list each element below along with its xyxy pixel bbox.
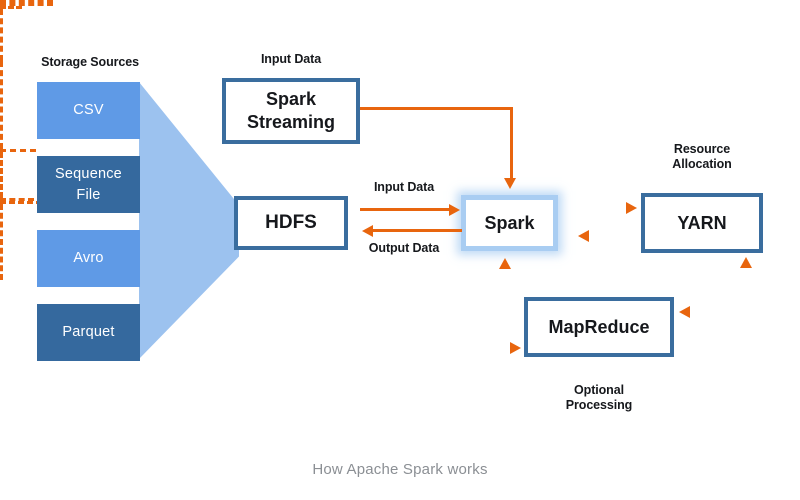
resource-allocation-label: ResourceAllocation [641, 142, 763, 172]
node-label: HDFS [265, 212, 317, 234]
connector-yarn-to-mapreduce-dashed-vertical [0, 152, 3, 198]
storage-item-label: CSV [73, 100, 103, 121]
storage-item-csv: CSV [37, 82, 140, 139]
hdfs-output-data-label: Output Data [352, 241, 456, 256]
optional-processing-label: OptionalProcessing [538, 383, 660, 413]
connector-spark-to-hdfs-line [372, 229, 462, 232]
node-yarn: YARN [641, 193, 763, 253]
node-spark: Spark [461, 195, 558, 251]
connector-hdfs-to-spark-arrowhead [449, 204, 460, 216]
connector-mapreduce-to-spark-dashed-vertical [0, 9, 3, 61]
storage-item-avro: Avro [37, 230, 140, 287]
storage-sources-title: Storage Sources [20, 55, 160, 70]
storage-item-label: SequenceFile [55, 164, 122, 206]
connector-spark-to-mapreduce-arrowhead [510, 342, 521, 354]
storage-item-sequence-file: SequenceFile [37, 156, 140, 213]
connector-mapreduce-to-spark-arrowhead [499, 258, 511, 269]
node-label: Spark [484, 213, 534, 234]
storage-item-label: Avro [73, 248, 103, 269]
connector-mapreduce-to-yarn-dashed-vertical [0, 204, 3, 280]
connector-streaming-to-spark-arrowhead [504, 178, 516, 189]
node-hdfs: HDFS [234, 196, 348, 250]
connector-spark-to-mapreduce-dashed-horizontal [0, 149, 36, 152]
streaming-input-data-label: Input Data [222, 52, 360, 67]
node-mapreduce: MapReduce [524, 297, 674, 357]
storage-item-label: Parquet [62, 322, 114, 343]
connector-yarn-to-spark-arrowhead [578, 230, 589, 242]
node-label: MapReduce [548, 317, 649, 338]
storage-item-parquet: Parquet [37, 304, 140, 361]
connector-spark-to-mapreduce-dashed-vertical [0, 61, 3, 149]
connector-mapreduce-to-yarn-arrowhead [740, 257, 752, 268]
connector-spark-to-hdfs-arrowhead [362, 225, 373, 237]
connector-mapreduce-to-spark-dashed-horizontal [0, 6, 22, 9]
diagram-caption: How Apache Spark works [0, 461, 800, 478]
hdfs-input-data-label: Input Data [352, 180, 456, 195]
node-label: YARN [677, 213, 726, 234]
connector-streaming-to-spark-vertical [510, 107, 513, 179]
connector-spark-to-yarn-arrowhead [626, 202, 637, 214]
connector-hdfs-to-spark-line [360, 208, 450, 211]
node-label: SparkStreaming [247, 88, 335, 134]
connector-streaming-to-spark-horizontal [360, 107, 513, 110]
connector-yarn-to-mapreduce-arrowhead [679, 306, 690, 318]
diagram-canvas: Storage Sources CSV SequenceFile Avro Pa… [0, 0, 800, 500]
node-spark-streaming: SparkStreaming [222, 78, 360, 144]
